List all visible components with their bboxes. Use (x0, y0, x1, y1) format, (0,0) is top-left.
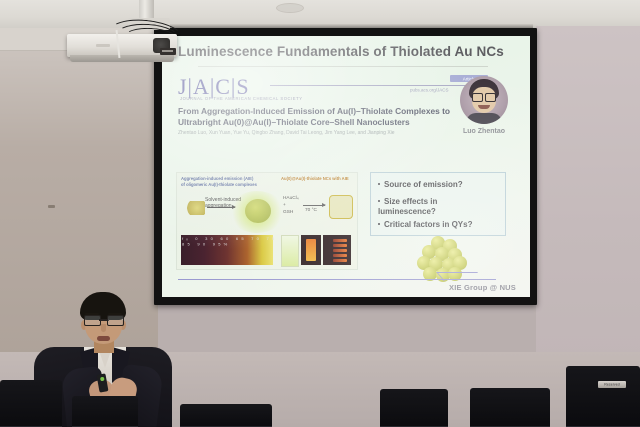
nose (101, 324, 106, 332)
jacs-rule (270, 85, 488, 86)
chair-tag: Reserved (598, 381, 626, 388)
portrait-caption: Luo Zhentao (448, 128, 520, 135)
audience-chair (470, 388, 550, 427)
portrait-shoulders (466, 113, 502, 124)
toc-temperature-label: 70 °C (305, 207, 317, 213)
question-bullets-box: Source of emission? Size effects in lumi… (370, 172, 506, 236)
bullet-item-2: Size effects in luminescence? (378, 197, 488, 217)
paper-title-line2: Ultrabright Au(0)@Au(I)–Thiolate Core–Sh… (178, 117, 470, 128)
toc-caption-right: Au(0)@Au(I)-thiolate NCs with AIE (281, 176, 355, 182)
toc-photo-panel-a (301, 235, 321, 265)
portrait-glasses-icon (472, 93, 496, 101)
wall-fixture (48, 205, 55, 208)
audience-chair (180, 404, 272, 427)
toc-graphic: Aggregation-induced emission (AIE) of ol… (176, 172, 358, 270)
projector-port-panel (160, 48, 176, 55)
bullet-dot-icon (378, 223, 380, 225)
toc-photo-panel-b (323, 235, 351, 265)
lecture-room-photo: Luminescence Fundamentals of Thiolated A… (0, 0, 640, 427)
bullet-item-1: Source of emission? (378, 180, 463, 190)
chair-tag-label: Reserved (595, 382, 629, 387)
audience-chair (0, 380, 62, 427)
ceiling-vent (276, 3, 304, 13)
footer-line (178, 279, 496, 280)
toc-reagent-1: HAuCl₄ (283, 195, 299, 202)
paper-title-line1: From Aggregation-Induced Emission of Au(… (178, 106, 470, 117)
bullet-dot-icon (378, 200, 380, 202)
bullet-dot-icon (378, 183, 380, 185)
projector-underside (70, 55, 174, 62)
audience-chair (380, 389, 448, 427)
audience-chair (72, 396, 138, 427)
footer-brand: XIE Group @ NUS (424, 283, 516, 292)
projected-slide: Luminescence Fundamentals of Thiolated A… (162, 36, 530, 297)
paper-title: From Aggregation-Induced Emission of Au(… (178, 106, 470, 128)
toc-nanocluster-cage-icon (329, 195, 353, 219)
journal-url: pubs.acs.org/JACS (410, 87, 449, 93)
toc-reagent-plus: + (283, 202, 299, 209)
mouth (97, 336, 110, 341)
toc-reagents: HAuCl₄ + GSH (283, 195, 299, 216)
toc-aggregate-cluster (245, 199, 271, 223)
toc-arrow-right (303, 205, 325, 206)
presenter-portrait-photo (460, 76, 508, 124)
toc-sample-vial (281, 235, 299, 267)
toc-molecule-icon (185, 201, 205, 215)
slide-title: Luminescence Fundamentals of Thiolated A… (178, 44, 518, 59)
toc-caption-left-line2: of oligomeric Au(I)-thiolate complexes (181, 182, 277, 188)
title-divider (198, 66, 488, 67)
paper-authors: Zhentao Luo, Xun Yuan, Yue Yu, Qingbo Zh… (178, 130, 468, 138)
projector-vent (96, 44, 110, 47)
toc-caption-left: Aggregation-induced emission (AIE) of ol… (181, 176, 277, 188)
jacs-subtitle: JOURNAL OF THE AMERICAN CHEMICAL SOCIETY (180, 97, 303, 102)
toc-reagent-2: GSH (283, 209, 299, 216)
bullet-item-3: Critical factors in QYs? (378, 220, 472, 230)
audience-chair (566, 366, 640, 427)
